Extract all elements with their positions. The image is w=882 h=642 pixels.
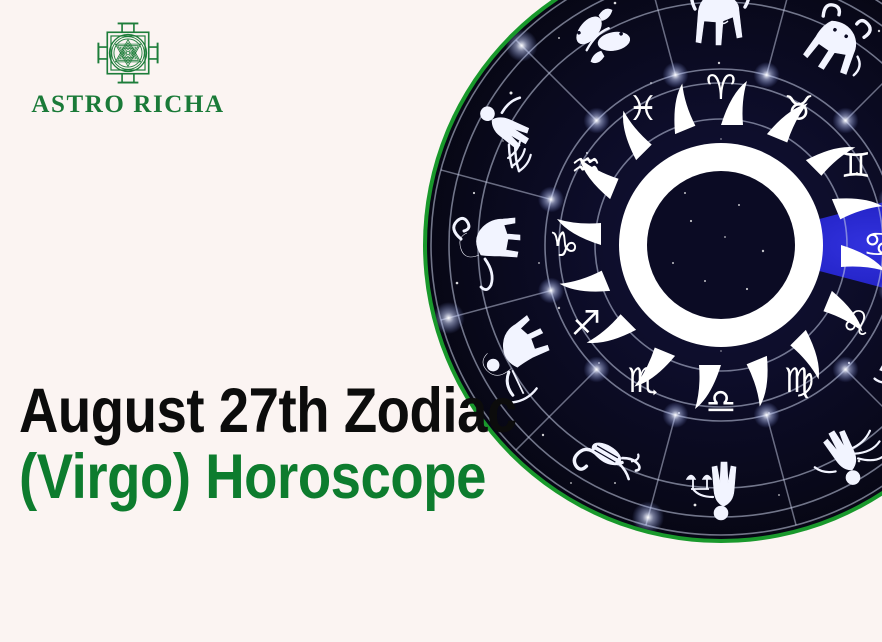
horoscope-banner: ♈ ♉ ♊ ♋ ♌ ♍ ♎ ♏ ♐ ♑ ♒ ♓ [0, 0, 882, 642]
glyph-leo: ♌ [841, 304, 871, 344]
figure-capricorn [454, 218, 520, 290]
figure-aries [692, 0, 749, 45]
glyph-pisces: ♓ [628, 89, 658, 129]
astro-richa-logo[interactable]: ASTRO RICHA [18, 16, 238, 124]
glyph-aquarius: ♒ [571, 146, 601, 186]
figure-taurus [798, 1, 880, 84]
glyph-gemini: ♊ [841, 146, 871, 186]
sri-yantra-icon [91, 16, 165, 90]
figure-pisces [566, 1, 636, 70]
figure-virgo [804, 414, 882, 498]
glyph-libra: ♎ [706, 382, 736, 422]
sun-emblem [557, 81, 882, 409]
glyph-sagittarius: ♐ [571, 304, 601, 344]
glyph-virgo: ♍ [784, 361, 814, 401]
figure-scorpio [571, 428, 645, 495]
glyph-scorpio: ♏ [628, 361, 658, 401]
figure-leo [870, 310, 882, 413]
logo-wordmark: ASTRO RICHA [31, 92, 224, 117]
title-line-sign: (Virgo) Horoscope [19, 444, 426, 510]
figure-libra [687, 462, 736, 520]
page-title: August 27th Zodiac (Virgo) Horoscope [19, 378, 489, 510]
glyph-aries: ♈ [706, 68, 736, 108]
glyph-cancer: ♋ [863, 225, 882, 265]
title-line-date: August 27th Zodiac [19, 378, 426, 444]
figure-aquarius [464, 84, 553, 172]
glyph-capricorn: ♑ [549, 225, 579, 265]
glyph-taurus: ♉ [784, 89, 814, 129]
